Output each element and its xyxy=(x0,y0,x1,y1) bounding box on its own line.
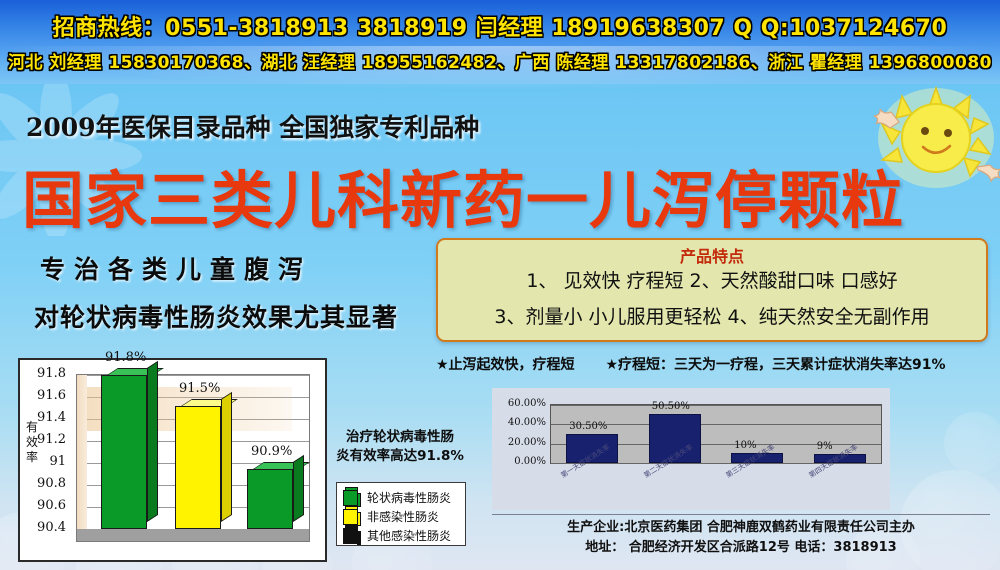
advertisement-poster: 招商热线：0551-3818913 3818919 闫经理 1891963830… xyxy=(0,0,1000,570)
star-claims-line: ★止泻起效快，疗程短 ★疗程短：三天为一疗程，三天累计症状消失率达91% xyxy=(436,354,996,374)
efficacy-chart-ytick: 91 xyxy=(20,454,66,469)
bar-side xyxy=(221,392,232,522)
feature-row-2: 3、剂量小 小儿服用更轻松 4、纯天然安全无副作用 xyxy=(438,302,986,329)
legend-swatch-top xyxy=(345,525,358,529)
bar-face xyxy=(247,469,293,529)
bar-side xyxy=(147,361,158,522)
symptom-chart-ytick: 40.00% xyxy=(492,417,546,428)
gridline xyxy=(551,405,881,406)
bar-value-label: 9% xyxy=(817,441,833,452)
bar-side xyxy=(293,455,304,522)
bar-value-label: 91.8% xyxy=(105,350,146,365)
bar-value-label: 10% xyxy=(734,440,756,451)
hero-slogan-secondary: 对轮状病毒性肠炎效果尤其显著 xyxy=(34,298,398,334)
efficacy-caption-line2: 炎有效率高达91.8% xyxy=(330,447,470,466)
efficacy-chart-ytick: 91.8 xyxy=(20,366,66,381)
efficacy-caption-line1: 治疗轮状病毒性肠 xyxy=(330,428,470,447)
chart-bar xyxy=(101,375,147,529)
chart-bar xyxy=(247,469,293,529)
legend-swatch-side xyxy=(357,512,361,526)
legend-swatch xyxy=(343,509,358,525)
manufacturer-info: 生产企业:北京医药集团 合肥神鹿双鹤药业有限责任公司主办 地址： 合肥经济开发区… xyxy=(492,518,990,558)
efficacy-chart-ytick: 90.6 xyxy=(20,498,66,513)
legend-label: 非感染性肠炎 xyxy=(367,508,439,525)
efficacy-chart-floor xyxy=(77,529,309,541)
symptom-chart-ytick: 60.00% xyxy=(492,398,546,409)
bar-value-label: 91.5% xyxy=(179,381,220,396)
hero-subtitle: 2009年医保目录品种 全国独家专利品种 xyxy=(26,108,479,144)
symptom-chart-ytick: 20.00% xyxy=(492,437,546,448)
legend-swatch-top xyxy=(345,487,358,491)
features-heading: 产品特点 xyxy=(438,243,986,267)
manufacturer-line: 生产企业:北京医药集团 合肥神鹿双鹤药业有限责任公司主办 xyxy=(492,518,990,538)
feature-row-1: 1、 见效快 疗程短 2、天然酸甜口味 口感好 xyxy=(438,266,986,293)
legend-swatch xyxy=(343,490,358,506)
efficacy-chart-backwall xyxy=(77,375,87,541)
bar-value-label: 30.50% xyxy=(569,421,607,432)
efficacy-chart-ytick: 91.2 xyxy=(20,432,66,447)
efficacy-chart-ytick: 90.4 xyxy=(20,520,66,535)
legend-swatch-side xyxy=(357,531,361,545)
bar-face xyxy=(101,375,147,529)
star-claim-2: ★疗程短：三天为一疗程，三天累计症状消失率达91% xyxy=(605,357,945,373)
product-features-box: 产品特点 1、 见效快 疗程短 2、天然酸甜口味 口感好 3、剂量小 小儿服用更… xyxy=(436,238,988,342)
page-title: 国家三类儿科新药一儿泻停颗粒 xyxy=(22,150,972,240)
regional-agents-text: 河北 刘经理 15830170368、湖北 汪经理 18955162482、广西… xyxy=(0,48,1000,73)
efficacy-chart-ytick: 91.6 xyxy=(20,388,66,403)
symptom-chart-ytick: 0.00% xyxy=(492,456,546,467)
efficacy-chart-legend: 轮状病毒性肠炎非感染性肠炎其他感染性肠炎 xyxy=(336,482,466,546)
hero-slogan-primary: 专治各类儿童腹泻 xyxy=(40,250,312,286)
decor-bubble xyxy=(944,412,1000,474)
legend-label: 轮状病毒性肠炎 xyxy=(367,489,451,506)
bar-face xyxy=(175,406,221,529)
bar-value-label: 50.50% xyxy=(652,401,690,412)
symptom-disappearance-chart: 60.00%40.00%20.00%0.00% 第一天症状消失率第二天症状消失率… xyxy=(492,388,890,510)
bar-value-label: 90.9% xyxy=(251,444,292,459)
legend-swatch-top xyxy=(345,506,358,510)
address-line: 地址： 合肥经济开发区合派路12号 电话：3818913 xyxy=(492,538,990,558)
hotline-text: 招商热线：0551-3818913 3818919 闫经理 1891963830… xyxy=(0,10,1000,42)
footer-divider xyxy=(492,514,990,515)
efficacy-chart-ytick: 91.4 xyxy=(20,410,66,425)
efficacy-chart: 有效率 91.891.691.491.29190.890.690.4 91.8%… xyxy=(18,358,327,562)
efficacy-chart-ytick: 90.8 xyxy=(20,476,66,491)
legend-label: 其他感染性肠炎 xyxy=(367,527,451,544)
chart-bar xyxy=(175,406,221,529)
legend-swatch xyxy=(343,528,358,544)
legend-swatch-side xyxy=(357,493,361,507)
star-claim-1: ★止泻起效快，疗程短 xyxy=(436,357,575,373)
efficacy-chart-plot: 91.8%91.5%90.9% xyxy=(76,374,310,542)
efficacy-caption: 治疗轮状病毒性肠 炎有效率高达91.8% xyxy=(330,428,470,466)
